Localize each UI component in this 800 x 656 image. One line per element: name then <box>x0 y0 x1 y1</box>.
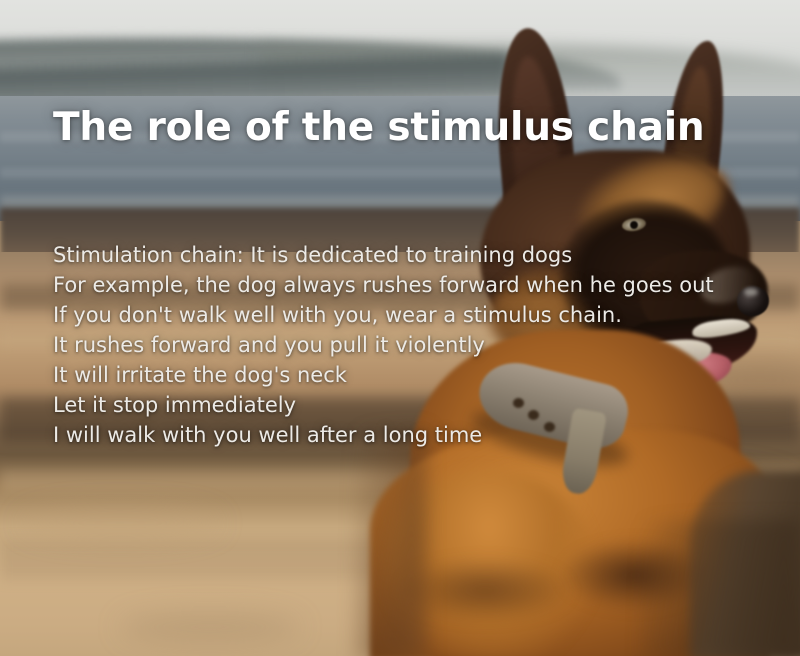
slide-canvas: The role of the stimulus chain Stimulati… <box>0 0 800 656</box>
body-line: Let it stop immediately <box>53 390 714 420</box>
body-line: I will walk with you well after a long t… <box>53 420 714 450</box>
body-line: It will irritate the dog's neck <box>53 360 714 390</box>
body-line: It rushes forward and you pull it violen… <box>53 330 714 360</box>
dog-nose-highlight <box>744 288 758 296</box>
dog-neck-edge <box>356 430 426 656</box>
body-line: For example, the dog always rushes forwa… <box>53 270 714 300</box>
page-title: The role of the stimulus chain <box>53 108 704 147</box>
body-text-block: Stimulation chain: It is dedicated to tr… <box>53 240 714 450</box>
dog-eye-pupil <box>630 221 638 229</box>
body-line: Stimulation chain: It is dedicated to tr… <box>53 240 714 270</box>
dog-back <box>640 520 800 656</box>
body-line: If you don't walk well with you, wear a … <box>53 300 714 330</box>
